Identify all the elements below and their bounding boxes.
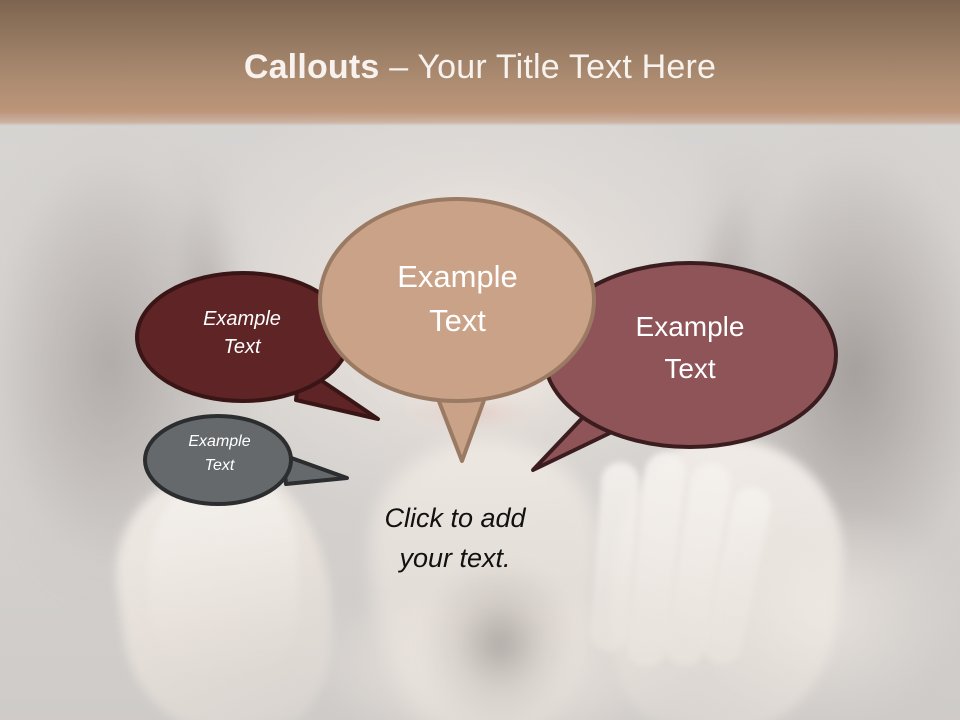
callout-right-rose-label: Example Text	[585, 306, 795, 390]
callout-left-maroon-label: Example Text	[152, 305, 332, 361]
callout-shapes-layer	[0, 0, 960, 720]
body-placeholder-text[interactable]: Click to add your text.	[330, 498, 580, 578]
callout-center-tan-label: Example Text	[325, 255, 590, 343]
slide-canvas: Callouts – Your Title Text Here Example …	[0, 0, 960, 720]
callout-small-gray-label: Example Text	[152, 430, 287, 478]
